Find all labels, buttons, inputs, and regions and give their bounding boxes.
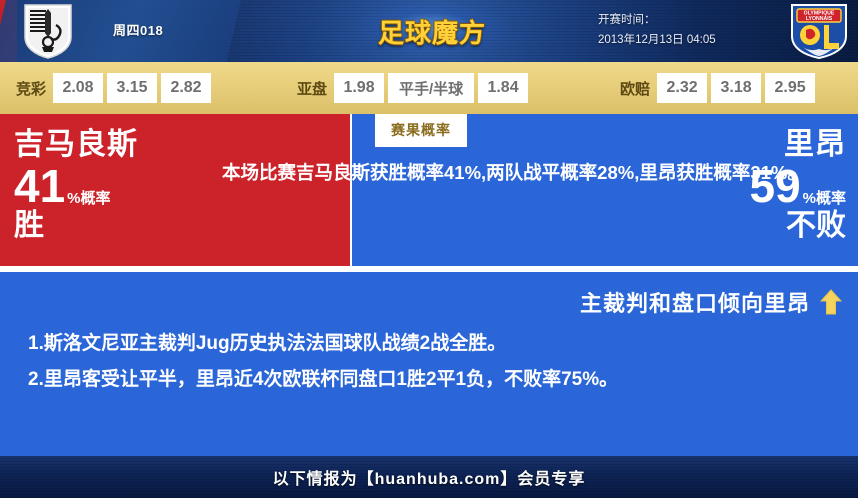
kickoff-label: 开赛时间： [598,10,716,30]
odds-cell-european-home[interactable]: 2.32 [657,73,707,103]
kickoff-info: 开赛时间： 2013年12月13日 04:05 [598,10,716,50]
insight-section: 主裁判和盘口倾向里昂 1.斯洛文尼亚主裁判Jug历史执法法国球队战绩2战全胜。 … [0,272,858,456]
away-team-crest: OLYMPIQUE LYONNAIS [788,3,850,59]
odds-cell-jingcai-home[interactable]: 2.08 [53,73,103,103]
header-bar: 周四018 足球魔方 开赛时间： 2013年12月13日 04:05 OLYMP… [0,0,858,62]
home-percent-suffix: %概率 [67,191,110,209]
home-probability-panel: 吉马良斯 41 %概率 胜 [0,114,350,266]
odds-group-asian-handicap: 亚盘 1.98 平手/半球 1.84 [297,73,532,103]
away-percent-suffix: %概率 [803,191,846,209]
insight-notes: 1.斯洛文尼亚主裁判Jug历史执法法国球队战绩2战全胜。 2.里昂客受让平半，里… [28,326,840,398]
home-result-label: 胜 [14,209,138,243]
odds-label-jingcai: 竞彩 [16,78,46,99]
probability-summary-text: 本场比赛吉马良斯获胜概率41%,两队战平概率28%,里昂获胜概率31%。 [222,157,822,188]
odds-group-jingcai: 竞彩 2.08 3.15 2.82 [16,73,215,103]
home-probability-block: 吉马良斯 41 %概率 胜 [14,127,138,243]
odds-cell-jingcai-away[interactable]: 2.82 [161,73,211,103]
kickoff-value: 2013年12月13日 04:05 [598,30,716,50]
insight-title: 主裁判和盘口倾向里昂 [580,286,810,318]
insight-note-2: 2.里昂客受让平半，里昂近4次欧联杯同盘口1胜2平1负，不败率75%。 [28,362,840,398]
home-team-name: 吉马良斯 [14,127,138,163]
arrow-up-icon [820,289,842,315]
round-label: 周四018 [113,20,163,39]
odds-label-european: 欧赔 [620,78,650,99]
odds-bar: 竞彩 2.08 3.15 2.82 亚盘 1.98 平手/半球 1.84 欧赔 … [0,62,858,114]
odds-group-european: 欧赔 2.32 3.18 2.95 [620,73,819,103]
match-probability-card: 周四018 足球魔方 开赛时间： 2013年12月13日 04:05 OLYMP… [0,0,858,498]
home-percent-value: 41 [14,163,65,209]
odds-cell-jingcai-draw[interactable]: 3.15 [107,73,157,103]
home-percent-line: 41 %概率 [14,163,138,209]
odds-cell-asian-away[interactable]: 1.84 [478,73,528,103]
odds-cell-european-draw[interactable]: 3.18 [711,73,761,103]
odds-cell-asian-line[interactable]: 平手/半球 [388,73,474,103]
away-result-label: 不败 [749,209,846,243]
logo-text: 足球魔方 [378,13,486,50]
odds-cell-european-away[interactable]: 2.95 [765,73,815,103]
home-team-crest [22,3,74,59]
odds-cell-asian-home[interactable]: 1.98 [334,73,384,103]
svg-text:LYONNAIS: LYONNAIS [806,16,833,22]
site-logo[interactable]: 足球魔方 [352,4,512,58]
tab-result-probability[interactable]: 赛果概率 [375,114,467,147]
insight-title-row: 主裁判和盘口倾向里昂 [580,286,842,318]
footer-text: 以下情报为【huanhuba.com】会员专享 [273,465,586,489]
odds-label-asian-handicap: 亚盘 [297,78,327,99]
insight-note-1: 1.斯洛文尼亚主裁判Jug历史执法法国球队战绩2战全胜。 [28,326,840,362]
footer-bar: 以下情报为【huanhuba.com】会员专享 [0,456,858,498]
